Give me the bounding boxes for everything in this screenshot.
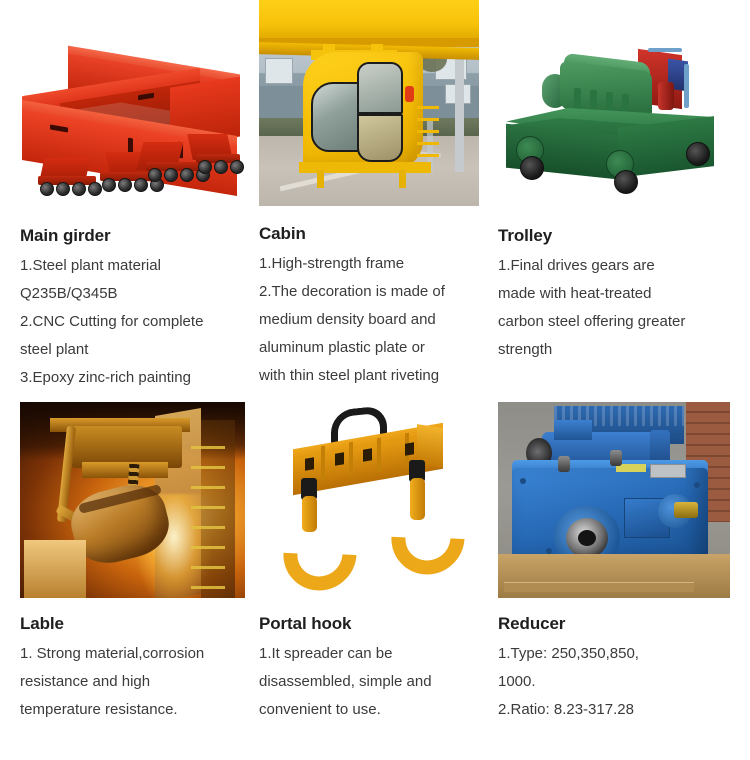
card-heading: Main girder	[20, 224, 245, 248]
reducer-image[interactable]	[498, 402, 730, 598]
portal-hook-text: Portal hook 1.It spreader can be disasse…	[259, 612, 479, 724]
card-heading: Cabin	[259, 222, 479, 246]
reducer-text: Reducer 1.Type: 250,350,850, 1000. 2.Rat…	[498, 612, 730, 724]
trolley-text: Trolley 1.Final drives gears are made wi…	[498, 224, 730, 394]
grid-row-bottom: Lable 1. Strong material,corrosion resis…	[0, 402, 750, 724]
card-body: 1.It spreader can be disassembled, simpl…	[259, 640, 479, 724]
cabin-text: Cabin 1.High-strength frame 2.The decora…	[259, 222, 479, 392]
lable-image[interactable]	[20, 402, 245, 598]
card-body: 1. Strong material,corrosion resistance …	[20, 640, 245, 724]
card-body: 1.Steel plant material Q235B/Q345B 2.CNC…	[20, 252, 245, 392]
card-trolley[interactable]: Trolley 1.Final drives gears are made wi…	[498, 0, 750, 394]
card-body: 1.Type: 250,350,850, 1000. 2.Ratio: 8.23…	[498, 640, 730, 724]
main-girder-image[interactable]	[20, 30, 245, 208]
card-body: 1.Final drives gears are made with heat-…	[498, 252, 730, 364]
card-heading: Lable	[20, 612, 245, 636]
card-body: 1.High-strength frame 2.The decoration i…	[259, 250, 479, 390]
lable-text: Lable 1. Strong material,corrosion resis…	[20, 612, 245, 724]
cabin-image[interactable]	[259, 0, 479, 206]
grid-row-top: Main girder 1.Steel plant material Q235B…	[0, 0, 750, 394]
portal-hook-image[interactable]	[259, 402, 479, 598]
card-main-girder[interactable]: Main girder 1.Steel plant material Q235B…	[0, 0, 258, 394]
card-heading: Portal hook	[259, 612, 479, 636]
card-cabin[interactable]: Cabin 1.High-strength frame 2.The decora…	[258, 0, 498, 394]
main-girder-text: Main girder 1.Steel plant material Q235B…	[20, 224, 245, 394]
card-heading: Reducer	[498, 612, 730, 636]
card-reducer[interactable]: Reducer 1.Type: 250,350,850, 1000. 2.Rat…	[498, 402, 750, 724]
trolley-image[interactable]	[498, 30, 730, 208]
component-grid: Main girder 1.Steel plant material Q235B…	[0, 0, 750, 724]
card-lable[interactable]: Lable 1. Strong material,corrosion resis…	[0, 402, 258, 724]
card-portal-hook[interactable]: Portal hook 1.It spreader can be disasse…	[258, 402, 498, 724]
card-heading: Trolley	[498, 224, 730, 248]
